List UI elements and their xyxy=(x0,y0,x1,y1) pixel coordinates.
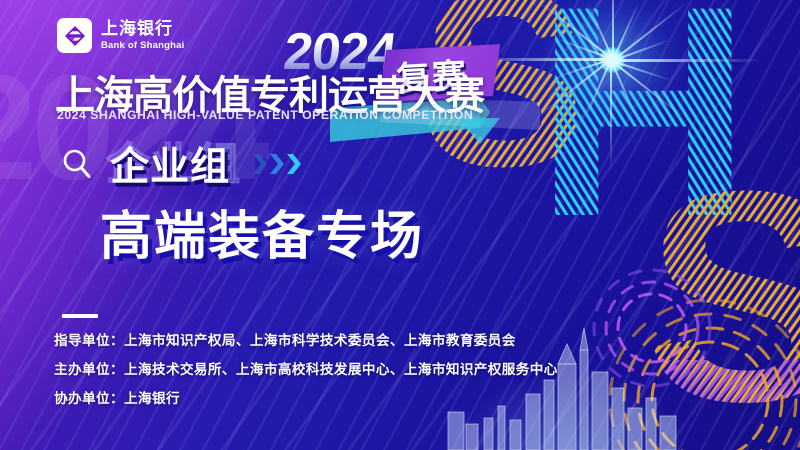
poster-canvas: 2024 S H S S xyxy=(0,0,800,450)
chevron-group xyxy=(252,153,302,175)
bank-name-en: Bank of Shanghai xyxy=(101,41,184,51)
org-line: 主办单位：上海技术交易所、上海市高校科技发展中心、上海市知识产权服务中心 xyxy=(54,358,558,378)
org-line: 指导单位：上海市知识产权局、上海市科学技术委员会、上海市教育委员会 xyxy=(54,329,558,349)
bank-of-shanghai-diamond-arrow-icon xyxy=(63,24,87,48)
magnifier-icon xyxy=(60,147,94,181)
competition-title-en: 2024 SHANGHAI HIGH-VALUE PATENT OPERATIO… xyxy=(57,108,473,122)
headline: 高端装备专场 xyxy=(100,194,424,269)
group-label: 企业组 xyxy=(110,136,230,192)
bank-name-cn: 上海银行 xyxy=(101,20,184,37)
group-row: 企业组 xyxy=(60,136,302,192)
org-line: 协办单位：上海银行 xyxy=(54,387,558,407)
chevron-right-icon xyxy=(252,153,268,175)
chevron-right-icon xyxy=(286,153,302,175)
bank-logo-mark xyxy=(57,18,92,53)
chevron-right-icon xyxy=(269,153,285,175)
sponsor-logo-block: 上海银行 Bank of Shanghai xyxy=(57,18,184,53)
divider-rule xyxy=(62,314,98,318)
organizations-block: 指导单位：上海市知识产权局、上海市科学技术委员会、上海市教育委员会 主办单位：上… xyxy=(54,329,558,407)
